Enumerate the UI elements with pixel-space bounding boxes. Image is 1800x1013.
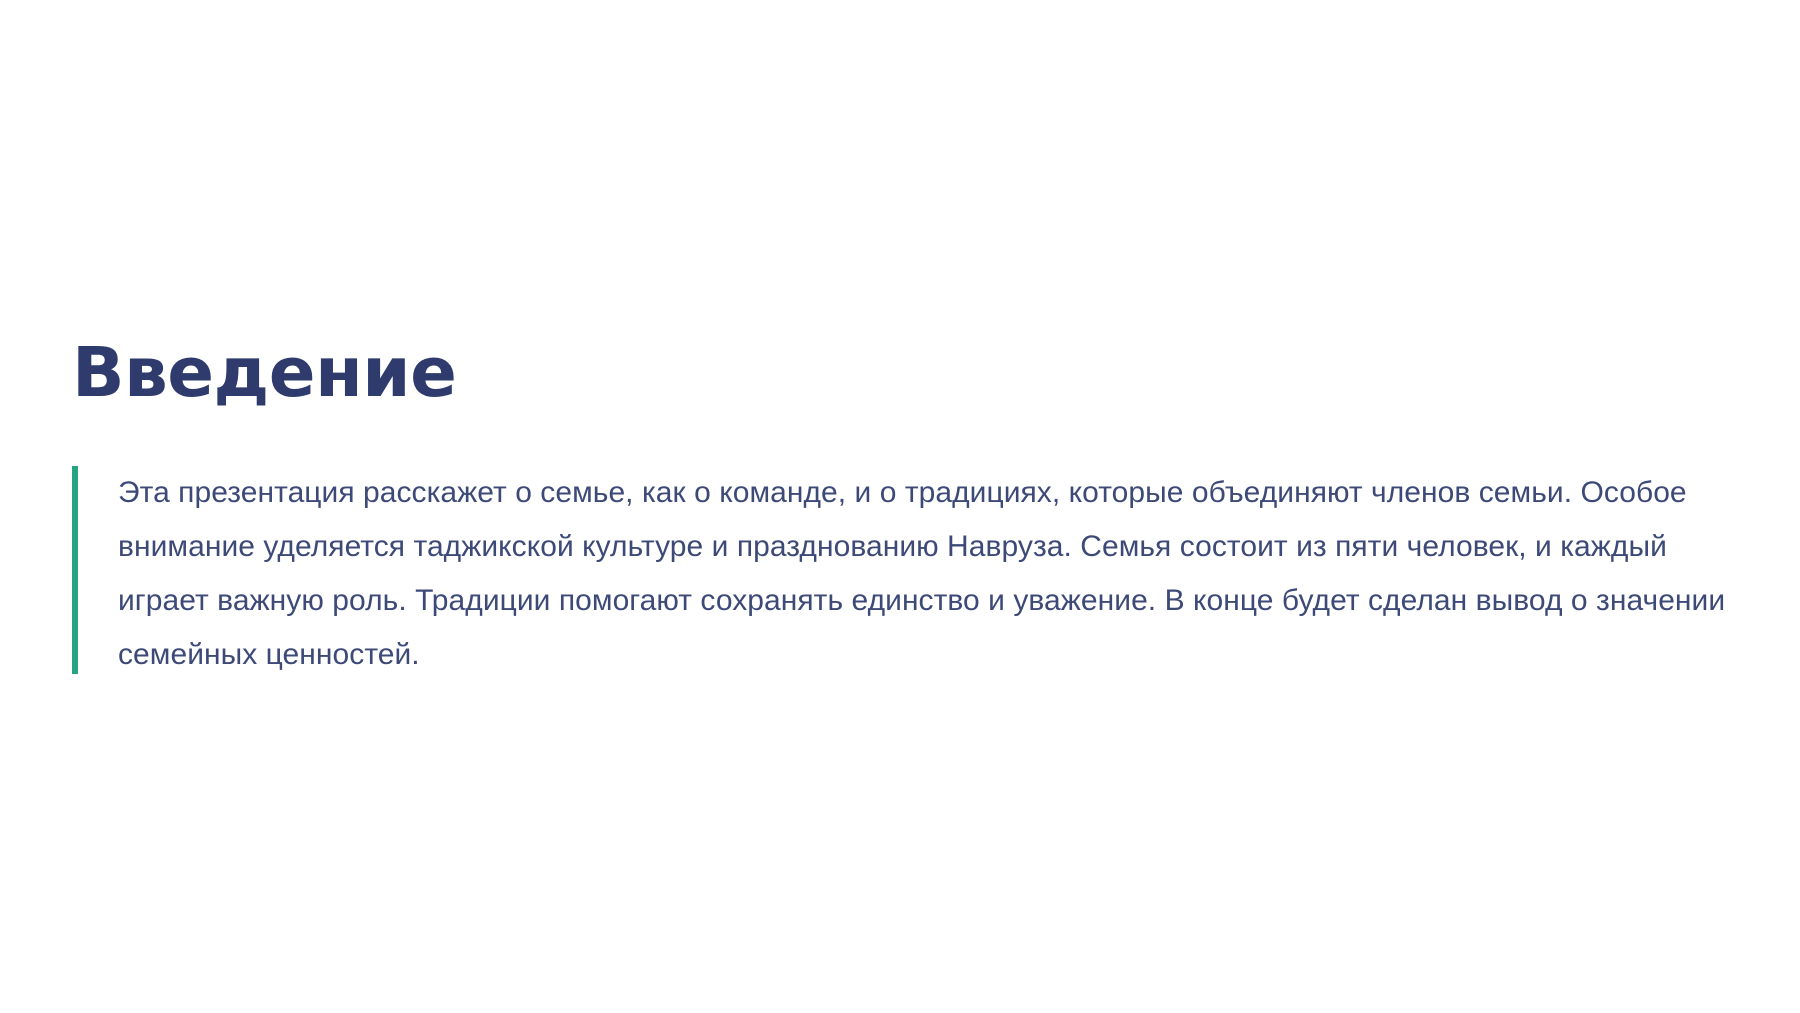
presentation-slide: Введение Эта презентация расскажет о сем…: [0, 0, 1800, 1013]
body-block: Эта презентация расскажет о семье, как о…: [72, 466, 1732, 682]
page-title: Введение: [72, 338, 1732, 408]
accent-bar: [72, 466, 78, 674]
slide-content: Введение Эта презентация расскажет о сем…: [72, 338, 1732, 682]
body-paragraph: Эта презентация расскажет о семье, как о…: [118, 466, 1728, 682]
